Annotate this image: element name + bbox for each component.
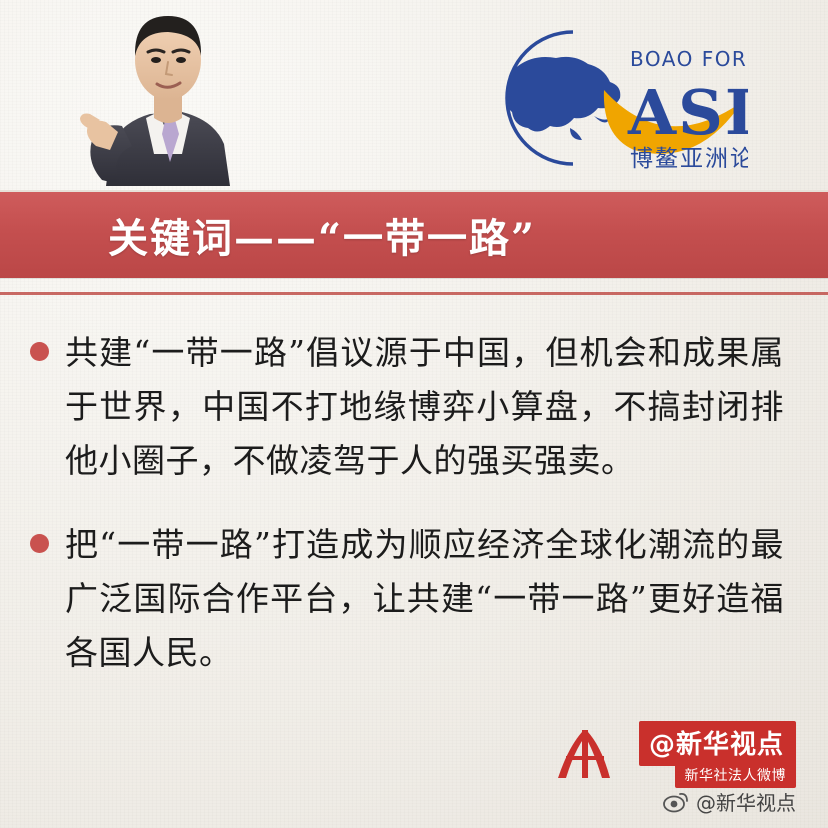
title-band: 关键词——“一带一路” [0, 190, 828, 278]
brand-badge: @新华视点 [639, 721, 796, 766]
weibo-row: @新华视点 [663, 787, 796, 816]
bullet-dot-icon [30, 342, 49, 361]
logo-line2: ASIA [627, 76, 748, 149]
xinhua-logo-icon [552, 728, 616, 782]
logo-line1: BOAO FORUM FOR [630, 47, 748, 71]
title-underline [0, 292, 828, 295]
logo-chinese: 博鳌亚洲论坛 [630, 146, 748, 172]
bullet-dot-icon [30, 534, 49, 553]
weibo-icon [663, 791, 689, 813]
portrait-photo [78, 0, 258, 186]
bullet-text: 把“一带一路”打造成为顺应经济全球化潮流的最广泛国际合作平台，让共建“一带一路”… [65, 518, 784, 680]
weibo-handle: @新华视点 [696, 787, 796, 816]
list-item: 共建“一带一路”倡议源于中国，但机会和成果属于世界，中国不打地缘博弈小算盘，不搞… [30, 326, 784, 488]
header: BOAO FORUM FOR ASIA 博鳌亚洲论坛 [0, 0, 828, 190]
content-area: 共建“一带一路”倡议源于中国，但机会和成果属于世界，中国不打地缘博弈小算盘，不搞… [0, 298, 828, 680]
list-item: 把“一带一路”打造成为顺应经济全球化潮流的最广泛国际合作平台，让共建“一带一路”… [30, 518, 784, 680]
boao-forum-logo: BOAO FORUM FOR ASIA 博鳌亚洲论坛 [398, 24, 748, 174]
brand-sub-badge: 新华社法人微博 [675, 763, 797, 788]
bullet-text: 共建“一带一路”倡议源于中国，但机会和成果属于世界，中国不打地缘博弈小算盘，不搞… [65, 326, 784, 488]
page-title: 关键词——“一带一路” [108, 206, 536, 264]
footer: @新华视点 新华社法人微博 @新华视点 [502, 698, 812, 818]
